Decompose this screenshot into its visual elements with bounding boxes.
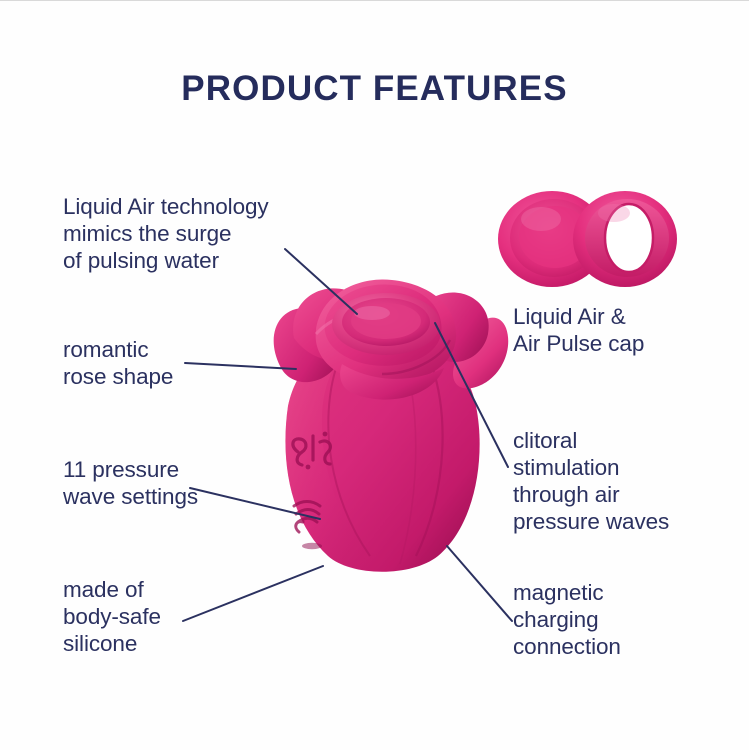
callout-romantic-rose-shape: romantic rose shape — [63, 336, 283, 390]
rose-device-image — [250, 256, 515, 586]
callout-liquid-air-technology: Liquid Air technology mimics the surge o… — [63, 193, 323, 274]
callout-body-safe-silicone: made of body-safe silicone — [63, 576, 283, 657]
page-title: PRODUCT FEATURES — [0, 69, 749, 109]
air-pulse-cap-shape — [573, 191, 677, 287]
callout-liquid-air-air-pulse-cap: Liquid Air & Air Pulse cap — [513, 303, 738, 357]
interchangeable-caps-image — [496, 183, 681, 295]
callout-magnetic-charging: magnetic charging connection — [513, 579, 738, 660]
magnetic-charging-contacts — [302, 543, 322, 549]
callout-pressure-wave-settings: 11 pressure wave settings — [63, 456, 283, 510]
product-features-infographic: PRODUCT FEATURES — [0, 0, 749, 750]
air-pulse-opening — [332, 293, 440, 355]
callout-clitoral-stimulation: clitoral stimulation through air pressur… — [513, 427, 738, 535]
